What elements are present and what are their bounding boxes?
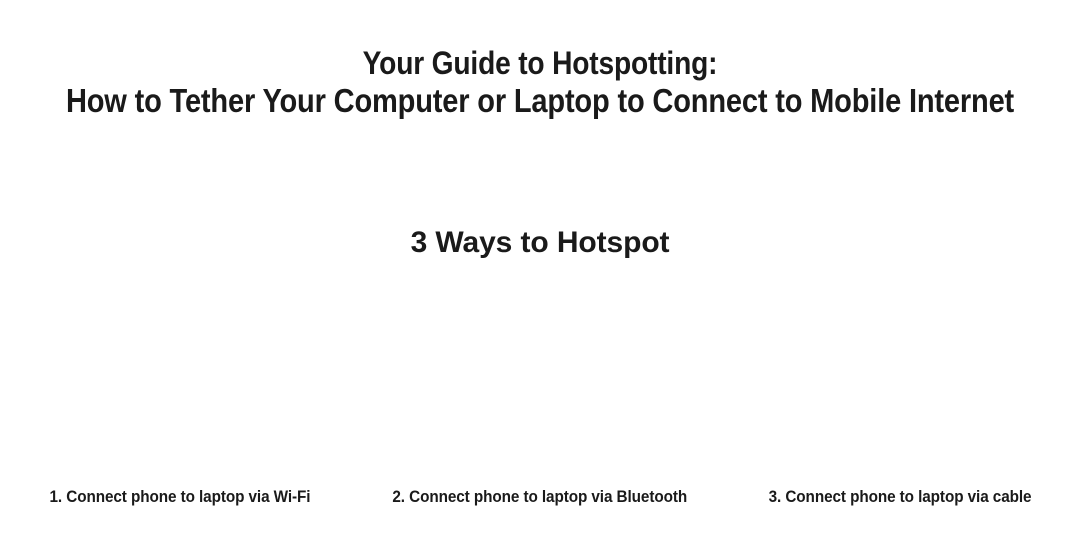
page-title-line-1: Your Guide to Hotspotting: <box>65 44 1015 82</box>
illustration-wifi <box>0 280 360 476</box>
method-item-wifi: 1. Connect phone to laptop via Wi-Fi <box>0 486 360 508</box>
method-item-bluetooth: 2. Connect phone to laptop via Bluetooth <box>360 486 720 508</box>
infographic-page: Your Guide to Hotspotting: How to Tether… <box>0 0 1080 552</box>
illustration-cable <box>720 280 1080 476</box>
method-caption-bluetooth: 2. Connect phone to laptop via Bluetooth <box>393 486 688 508</box>
section-heading: 3 Ways to Hotspot <box>0 224 1080 262</box>
method-caption-cable: 3. Connect phone to laptop via cable <box>769 486 1032 508</box>
illustration-row <box>0 280 1080 476</box>
illustration-bluetooth <box>360 280 720 476</box>
page-title-line-2: How to Tether Your Computer or Laptop to… <box>65 82 1015 120</box>
method-item-cable: 3. Connect phone to laptop via cable <box>720 486 1080 508</box>
page-title: Your Guide to Hotspotting: How to Tether… <box>0 44 1080 120</box>
method-caption-wifi: 1. Connect phone to laptop via Wi-Fi <box>50 486 311 508</box>
caption-row: 1. Connect phone to laptop via Wi-Fi 2. … <box>0 486 1080 516</box>
